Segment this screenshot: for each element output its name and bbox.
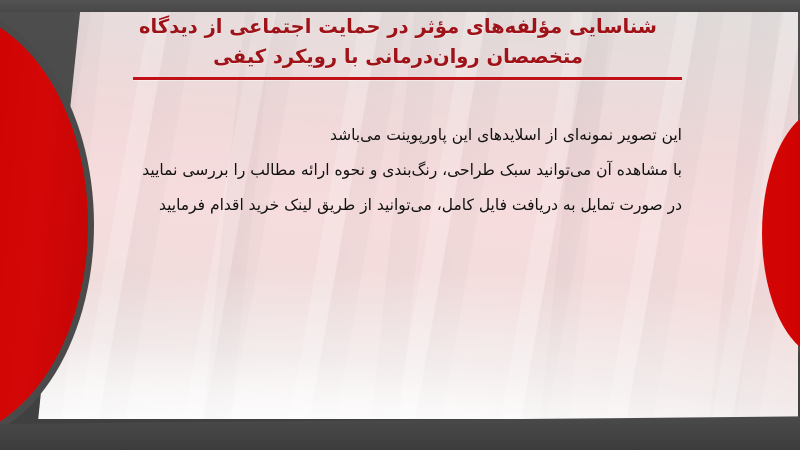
slide-title: شناسایی مؤلفه‌های مؤثر در حمایت اجتماعی … <box>114 12 682 72</box>
slide-body: این تصویر نمونه‌ای از اسلایدهای این پاور… <box>117 118 682 223</box>
slide-body-line-2: با مشاهده آن می‌توانید سبک طراحی، رنگ‌بن… <box>117 153 682 188</box>
presentation-slide: شناسایی مؤلفه‌های مؤثر در حمایت اجتماعی … <box>0 0 800 450</box>
title-underline-rule <box>133 77 682 80</box>
slide-body-line-3: در صورت تمایل به دریافت فایل کامل، می‌تو… <box>117 188 682 223</box>
slide-title-line-2: متخصصان روان‌درمانی با رویکرد کیفی <box>114 42 682 72</box>
slide-text-content: شناسایی مؤلفه‌های مؤثر در حمایت اجتماعی … <box>0 0 800 450</box>
slide-title-line-1: شناسایی مؤلفه‌های مؤثر در حمایت اجتماعی … <box>114 12 682 42</box>
slide-body-line-1: این تصویر نمونه‌ای از اسلایدهای این پاور… <box>117 118 682 153</box>
